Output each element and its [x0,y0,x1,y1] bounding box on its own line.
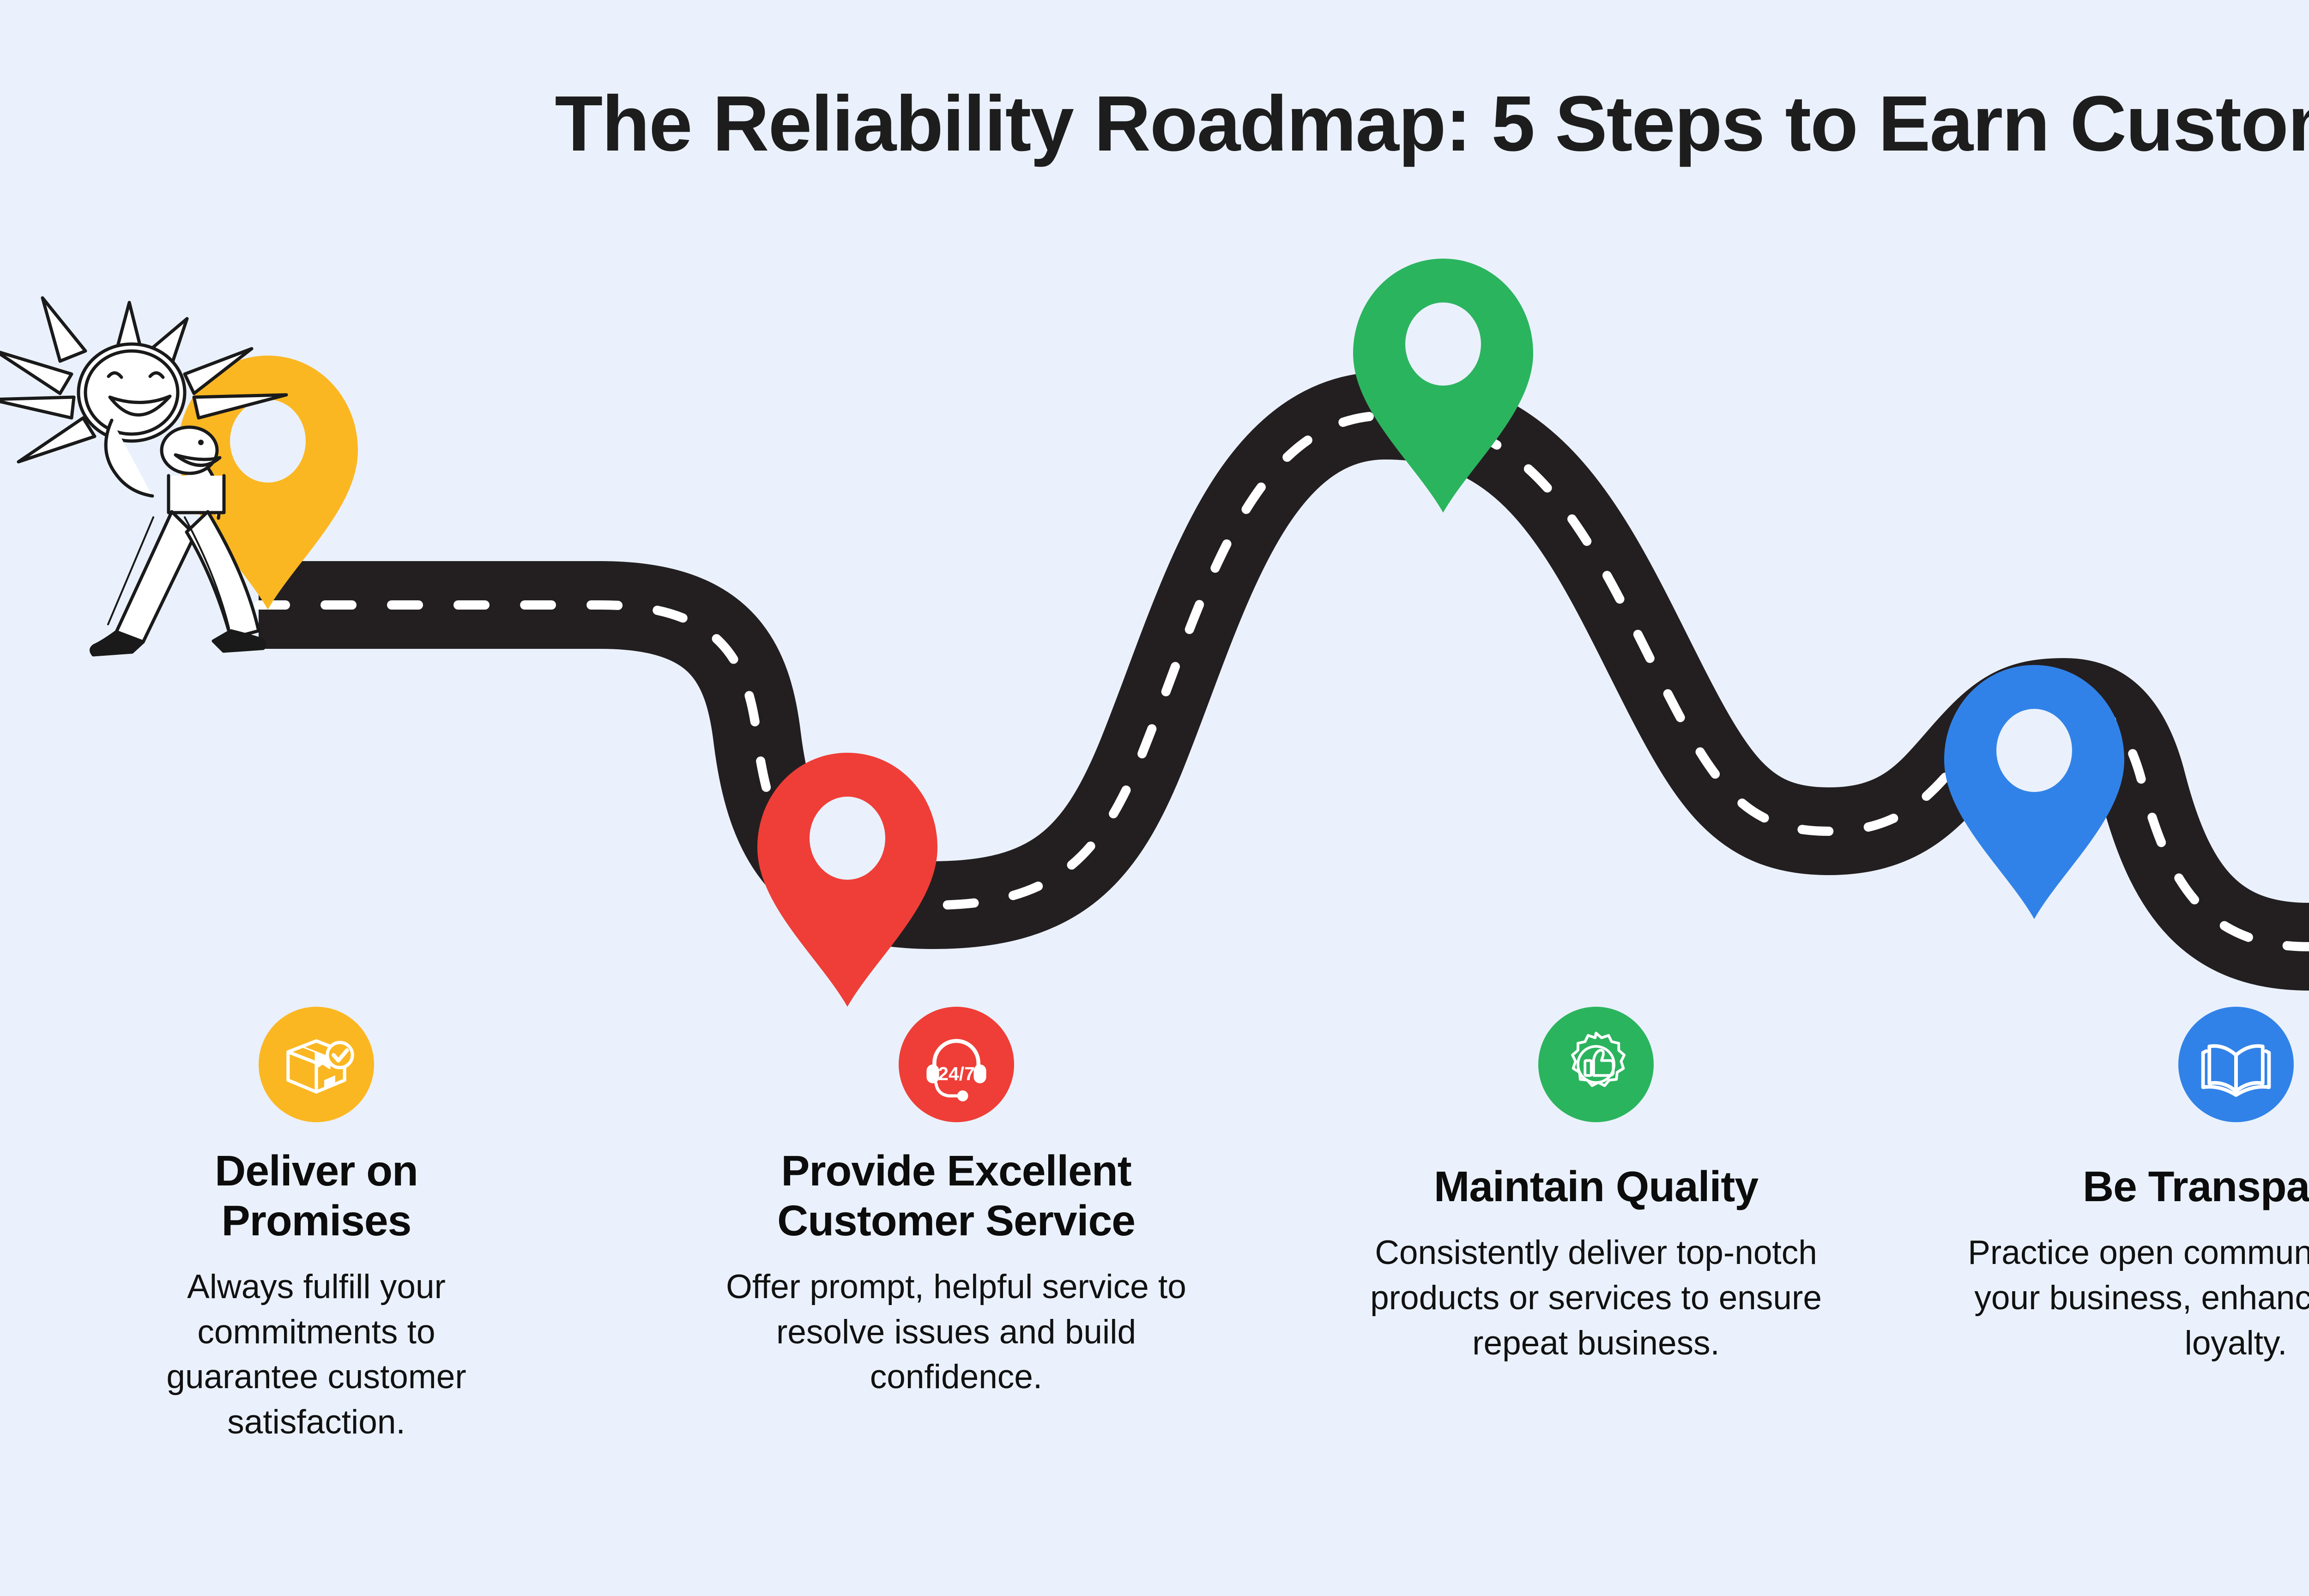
step-2[interactable]: 24/7 Provide Excellent Customer Service … [668,1007,1245,1400]
step-3-description: Consistently deliver top-notch products … [1365,1230,1827,1366]
quality-badge-thumbs-up-icon [1538,1007,1654,1122]
step-3-title: Maintain Quality [1434,1162,1758,1212]
person-holding-sun-doodle [0,259,314,674]
step-2-title: Provide Excellent Customer Service [684,1146,1229,1246]
map-pin-2[interactable] [757,753,937,1007]
road-center-dashes [259,416,2309,947]
step-1-description: Always fulfill your commitments to guara… [125,1264,508,1445]
road-asphalt [259,416,2309,947]
open-book-icon [2178,1007,2294,1122]
page-title: The Reliability Roadmap: 5 Steps to Earn… [0,79,2309,169]
step-4[interactable]: Be Transparent Practice open communicati… [1947,1007,2309,1366]
step-1[interactable]: Deliver on Promises Always fulfill your … [28,1007,605,1445]
steps-row: Deliver on Promises Always fulfill your … [0,1007,2309,1445]
step-2-description: Offer prompt, helpful service to resolve… [721,1264,1192,1400]
infographic-canvas: The Reliability Roadmap: 5 Steps to Earn… [0,0,2309,1596]
step-4-description: Practice open communication about your b… [1964,1230,2309,1366]
headset-icon-label: 24/7 [938,1063,974,1084]
map-pin-3[interactable] [1353,259,1533,513]
package-check-icon [259,1007,374,1122]
step-3[interactable]: Maintain Quality Consistently deliver to… [1307,1007,1885,1366]
step-4-title: Be Transparent [2083,1162,2309,1212]
headset-247-icon: 24/7 [899,1007,1014,1122]
step-1-title: Deliver on Promises [141,1146,492,1246]
map-pin-4[interactable] [1944,665,2124,919]
